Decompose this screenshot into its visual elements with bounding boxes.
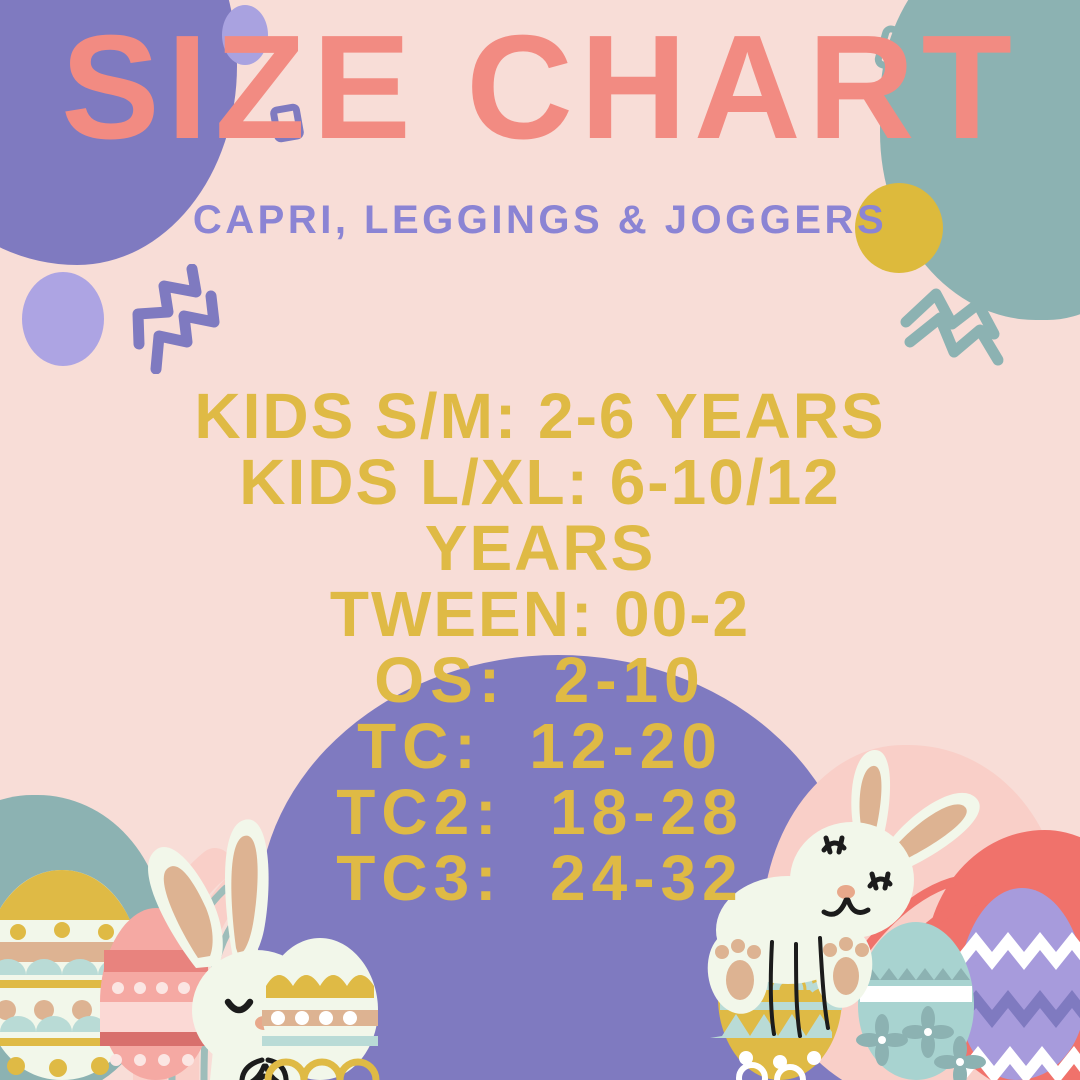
- page-title: SIZE CHART: [0, 14, 1080, 162]
- size-line-years: YEARS: [0, 515, 1080, 581]
- zigzag-purple-icon: [126, 264, 236, 374]
- easter-egg-coral-left: [100, 908, 212, 1080]
- size-line-tween: TWEEN: 00-2: [0, 581, 1080, 647]
- easter-egg-purple-right: [958, 888, 1080, 1080]
- size-line-tc2: TC2: 18-28: [0, 779, 1080, 845]
- size-line-os: OS: 2-10: [0, 647, 1080, 713]
- easter-egg-gold-left: [262, 938, 378, 1080]
- size-line-kids-sm: KIDS S/M: 2-6 YEARS: [0, 383, 1080, 449]
- size-list: KIDS S/M: 2-6 YEARS KIDS L/XL: 6-10/12 Y…: [0, 383, 1080, 911]
- page-subtitle: CAPRI, LEGGINGS & JOGGERS: [0, 198, 1080, 243]
- size-line-tc: TC: 12-20: [0, 713, 1080, 779]
- size-chart-poster: SIZE CHART CAPRI, LEGGINGS & JOGGERS KID…: [0, 0, 1080, 1080]
- zigzag-teal-icon: [898, 282, 1013, 382]
- size-line-kids-lxl: KIDS L/XL: 6-10/12: [0, 449, 1080, 515]
- easter-egg-gold-right: [710, 902, 842, 1080]
- size-line-tc3: TC3: 24-32: [0, 845, 1080, 911]
- easter-egg-mint-right: [856, 922, 986, 1080]
- lilac-dot-large: [22, 272, 104, 366]
